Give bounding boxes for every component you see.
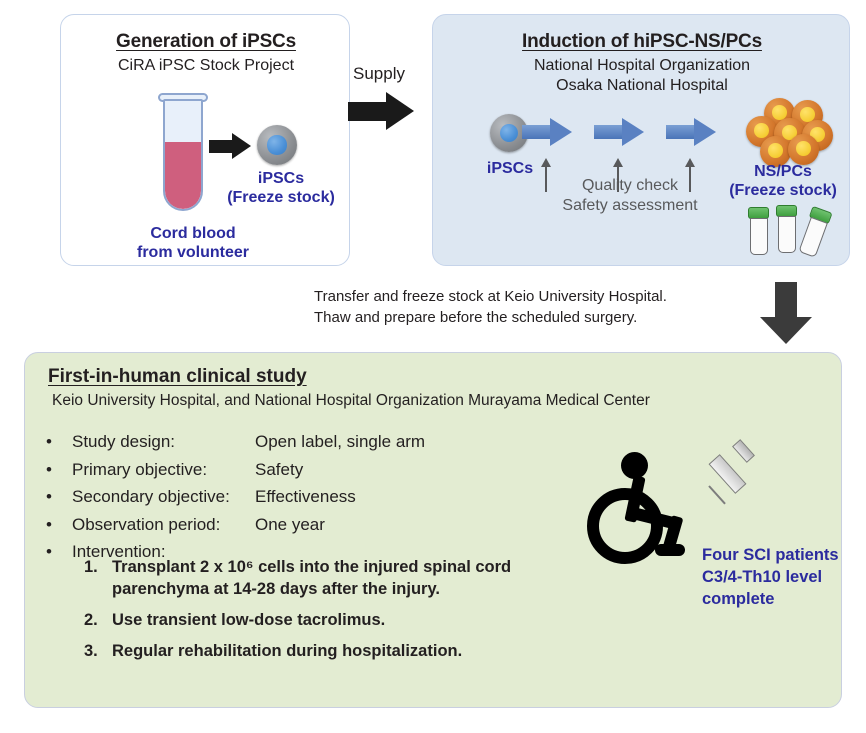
blue-right-arrow-icon-1 — [522, 118, 572, 146]
bullet-value: One year — [255, 511, 566, 539]
clinical-panel-title: First-in-human clinical study — [48, 366, 307, 388]
blue-right-arrow-icon-2 — [594, 118, 644, 146]
cryovial-icon-2 — [776, 205, 797, 253]
bullet-key: Observation period: — [72, 511, 255, 539]
black-down-arrow-icon — [760, 282, 812, 344]
cord-blood-label: Cord blood from volunteer — [113, 225, 273, 263]
bullet-value: Safety — [255, 456, 566, 484]
syringe-icon — [700, 440, 770, 516]
supply-black-right-arrow-icon — [348, 92, 414, 130]
cryovial-icon-1 — [748, 207, 769, 255]
nspc-freeze-stock-label: NS/PCs (Freeze stock) — [708, 163, 858, 201]
cryovial-icon-group — [748, 205, 848, 261]
ipsc-label-line2: (Freeze stock) — [181, 189, 381, 208]
bullet-marker: • — [46, 483, 72, 511]
quality-check-line: Quality check — [520, 176, 740, 196]
list-item: 2. Use transient low-dose tacrolimus. — [84, 609, 564, 631]
list-item: • Study design: Open label, single arm — [46, 428, 566, 456]
item-text: Transplant 2 x 10⁶ cells into the injure… — [112, 558, 511, 576]
clinical-bullet-list: • Study design: Open label, single arm •… — [46, 428, 566, 566]
syringe-needle — [708, 485, 726, 504]
bullet-key: Study design: — [72, 428, 255, 456]
generation-panel-subtitle: CiRA iPSC Stock Project — [61, 56, 351, 76]
panel-generation-of-ipscs: Generation of iPSCs CiRA iPSC Stock Proj… — [60, 14, 350, 266]
patient-note-line3: complete — [702, 589, 862, 611]
item-text: Regular rehabilitation during hospitaliz… — [112, 640, 564, 662]
cord-blood-line2: from volunteer — [113, 244, 273, 263]
syringe-plunger — [732, 439, 755, 463]
bullet-value: Open label, single arm — [255, 428, 566, 456]
cord-blood-line1: Cord blood — [113, 225, 273, 244]
list-item: 3. Regular rehabilitation during hospita… — [84, 640, 564, 662]
transfer-note-line2: Thaw and prepare before the scheduled su… — [314, 307, 734, 328]
bullet-key: Secondary objective: — [72, 483, 255, 511]
patient-note-line1: Four SCI patients — [702, 545, 862, 567]
ipsc-label-line1: iPSCs — [181, 170, 381, 189]
transfer-note-line1: Transfer and freeze stock at Keio Univer… — [314, 286, 734, 307]
induction-panel-subtitle: National Hospital Organization Osaka Nat… — [433, 56, 851, 95]
bullet-marker: • — [46, 428, 72, 456]
ipsc-cell-icon — [257, 125, 297, 165]
bullet-marker: • — [46, 538, 72, 566]
wheelchair-foot — [655, 544, 685, 556]
bullet-marker: • — [46, 456, 72, 484]
quality-safety-note: Quality check Safety assessment — [520, 176, 740, 216]
generation-panel-title: Generation of iPSCs — [61, 31, 351, 53]
list-item: • Primary objective: Safety — [46, 456, 566, 484]
list-item: 1. Transplant 2 x 10⁶ cells into the inj… — [84, 556, 564, 600]
item-text: Use transient low-dose tacrolimus. — [112, 609, 564, 631]
nspc-cell-cluster-icon — [742, 98, 846, 164]
nspc-label-line1: NS/PCs — [708, 163, 858, 182]
wheelchair-accessibility-icon — [583, 450, 695, 570]
black-right-arrow-icon — [209, 133, 251, 159]
wheelchair-wheel — [587, 488, 663, 564]
induction-subtitle-line2: Osaka National Hospital — [433, 76, 851, 96]
nspc-label-line2: (Freeze stock) — [708, 182, 858, 201]
item-text-wrap: Transplant 2 x 10⁶ cells into the injure… — [112, 556, 564, 600]
syringe-barrel — [709, 454, 747, 494]
intervention-numbered-list: 1. Transplant 2 x 10⁶ cells into the inj… — [84, 556, 564, 671]
blue-right-arrow-icon-3 — [666, 118, 716, 146]
item-number: 2. — [84, 609, 112, 631]
supply-label: Supply — [334, 64, 424, 84]
transfer-note: Transfer and freeze stock at Keio Univer… — [314, 286, 734, 329]
list-item: • Secondary objective: Effectiveness — [46, 483, 566, 511]
patient-note: Four SCI patients C3/4-Th10 level comple… — [702, 545, 862, 610]
clinical-panel-subtitle: Keio University Hospital, and National H… — [52, 392, 650, 410]
item-number: 1. — [84, 556, 112, 600]
induction-subtitle-line1: National Hospital Organization — [433, 56, 851, 76]
safety-assessment-line: Safety assessment — [520, 196, 740, 216]
patient-note-line2: C3/4-Th10 level — [702, 567, 862, 589]
ipsc-freeze-stock-label: iPSCs (Freeze stock) — [181, 170, 381, 208]
cryovial-icon-3 — [796, 206, 832, 258]
bullet-marker: • — [46, 511, 72, 539]
bullet-key: Primary objective: — [72, 456, 255, 484]
item-number: 3. — [84, 640, 112, 662]
induction-panel-title: Induction of hiPSC-NS/PCs — [433, 31, 851, 53]
list-item: • Observation period: One year — [46, 511, 566, 539]
bullet-value: Effectiveness — [255, 483, 566, 511]
item-text-continuation: parenchyma at 14-28 days after the injur… — [112, 578, 564, 600]
